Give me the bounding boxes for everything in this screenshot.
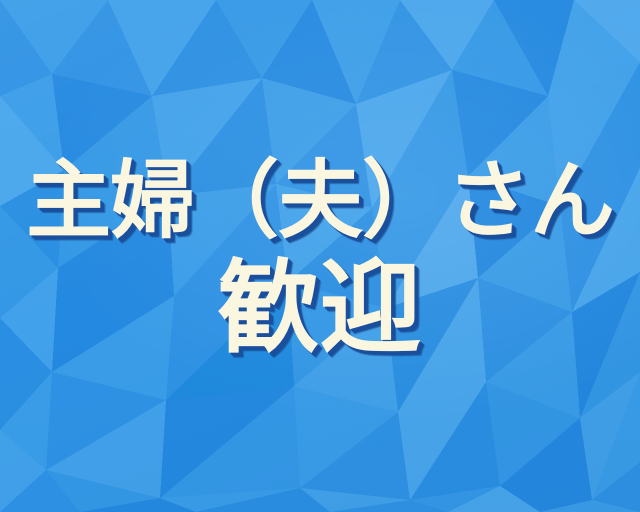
headline-line-1: 主婦（夫）さん — [26, 159, 614, 244]
headline-line-2: 歓迎 — [218, 258, 422, 359]
headline-block: 主婦（夫）さん 歓迎 — [0, 0, 640, 512]
recruitment-banner: 主婦（夫）さん 歓迎 — [0, 0, 640, 512]
